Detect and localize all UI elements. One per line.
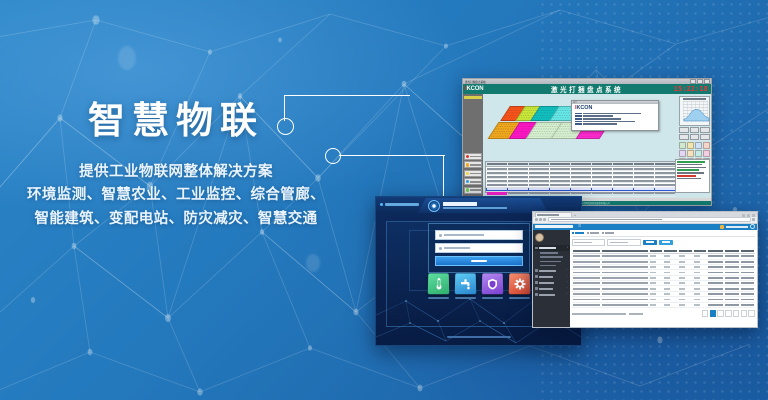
bell-icon <box>535 281 538 284</box>
back-icon[interactable] <box>535 218 538 221</box>
kcon-side-button[interactable] <box>464 187 482 194</box>
forward-icon[interactable] <box>539 218 542 221</box>
user-icon <box>439 234 442 237</box>
water-tap-icon <box>459 278 471 290</box>
kcon-sidebar[interactable] <box>463 94 483 198</box>
kcon-3d-map[interactable]: 关于 IKCON <box>485 96 677 162</box>
content-tabs[interactable] <box>572 232 755 237</box>
module-tiles[interactable] <box>428 273 530 299</box>
lock-icon <box>439 247 442 250</box>
browser-window[interactable]: + ☰ <box>532 211 758 328</box>
iot-title-ribbon <box>418 198 548 213</box>
user-icon <box>535 287 538 290</box>
about-info-row <box>575 118 658 120</box>
sidebar-item-settings[interactable]: › <box>533 292 570 298</box>
pager-buttons[interactable] <box>702 310 755 317</box>
login-button[interactable] <box>435 256 523 266</box>
date-input[interactable] <box>607 239 640 245</box>
login-form[interactable] <box>428 223 530 273</box>
panel-icon[interactable] <box>703 150 710 157</box>
panel-icon[interactable] <box>687 150 694 157</box>
chevron-down-icon: ▾ <box>567 247 568 249</box>
admin-content <box>570 230 757 328</box>
kcon-side-button[interactable] <box>464 153 482 160</box>
device-icon <box>535 247 538 250</box>
tab-device-list[interactable] <box>572 232 584 234</box>
power-icon[interactable] <box>750 224 755 229</box>
about-dialog[interactable]: 关于 IKCON <box>571 100 659 131</box>
chevron-right-icon: › <box>567 281 568 283</box>
about-dialog-title: 关于 <box>572 101 577 104</box>
pager-page-1[interactable] <box>710 310 717 317</box>
kcon-sidebar-buttons[interactable] <box>464 153 482 195</box>
panel-button[interactable] <box>679 134 689 140</box>
chevron-right-icon: › <box>567 287 568 289</box>
avatar <box>720 225 724 229</box>
search-button[interactable] <box>643 240 657 245</box>
avatar <box>535 233 544 242</box>
password-field[interactable] <box>435 243 523 253</box>
kcon-sidebar-header <box>464 96 482 99</box>
chart-curve <box>683 101 710 122</box>
device-table[interactable] <box>572 248 755 308</box>
pager-summary <box>572 313 626 315</box>
reset-button[interactable] <box>659 240 673 245</box>
menu-icon[interactable] <box>752 218 755 221</box>
kcon-button-row[interactable] <box>679 127 710 133</box>
hamburger-icon[interactable]: ☰ <box>578 225 581 228</box>
chevron-right-icon: › <box>567 269 568 271</box>
kcon-right-panel <box>679 96 710 162</box>
username-field[interactable] <box>435 230 523 240</box>
panel-button[interactable] <box>700 134 710 140</box>
panel-icon[interactable] <box>679 142 686 149</box>
banner-copy: 智慧物联 提供工业物联网整体解决方案 环境监测、智慧农业、工业监控、综合管廊、 … <box>0 102 352 231</box>
kcon-window-title: 激光打捆盘点系统 <box>463 80 690 84</box>
chevron-right-icon: › <box>567 275 568 277</box>
iot-title-text <box>443 202 507 208</box>
module-tile-environment[interactable] <box>428 273 449 299</box>
panel-icon[interactable] <box>695 150 702 157</box>
device-table-body[interactable] <box>572 254 755 308</box>
kcon-trend-chart <box>679 96 710 126</box>
page-title: 智慧物联 <box>0 102 352 139</box>
gear-icon <box>428 200 440 212</box>
status-dot-icon <box>380 203 383 206</box>
subtitle-line-1: 提供工业物联网整体解决方案 <box>0 161 352 184</box>
kcon-button-row[interactable] <box>679 134 710 140</box>
admin-user-name <box>726 226 748 228</box>
pager-page-3[interactable] <box>725 310 732 317</box>
chart-title-bar <box>683 98 706 100</box>
shield-icon <box>486 278 497 290</box>
module-tile-label <box>455 297 476 299</box>
panel-icon[interactable] <box>679 150 686 157</box>
kcon-side-button[interactable] <box>464 161 482 168</box>
kcon-data-table[interactable] <box>485 161 677 193</box>
kcon-body: 关于 IKCON <box>463 94 711 198</box>
tab-realtime-data[interactable] <box>587 232 599 234</box>
subtitle-line-2: 环境监测、智慧农业、工业监控、综合管廊、 <box>0 184 352 207</box>
panel-button[interactable] <box>690 127 700 133</box>
sidebar-user-card <box>533 232 570 245</box>
about-dialog-logo: IKCON <box>575 106 658 111</box>
tab-history-data[interactable] <box>602 232 614 234</box>
close-button[interactable] <box>752 214 755 217</box>
pager-next[interactable] <box>748 310 755 317</box>
chart-icon <box>535 275 538 278</box>
banner-subtitle: 提供工业物联网整体解决方案 环境监测、智慧农业、工业监控、综合管廊、 智能建筑、… <box>0 161 352 231</box>
chevron-right-icon: › <box>567 293 568 295</box>
panel-button[interactable] <box>679 127 689 133</box>
kcon-side-button[interactable] <box>464 178 482 185</box>
gear-icon <box>535 293 538 296</box>
reload-icon[interactable] <box>543 218 546 221</box>
panel-icon[interactable] <box>695 142 702 149</box>
table-row[interactable] <box>572 302 755 307</box>
module-tile-device[interactable] <box>509 273 530 299</box>
pager-page-5[interactable] <box>741 310 748 317</box>
pager-prev[interactable] <box>702 310 709 317</box>
module-tile-label <box>482 297 503 299</box>
about-info-row <box>575 123 658 125</box>
about-info-row <box>575 121 658 123</box>
module-tile-label <box>428 297 449 299</box>
panel-button[interactable] <box>700 127 710 133</box>
panel-icon[interactable] <box>703 142 710 149</box>
pager-page-4[interactable] <box>733 310 740 317</box>
kcon-clock: 15:22:18 <box>674 85 708 93</box>
kcon-log-panel <box>675 159 710 193</box>
kcon-header: IKCON 激光打捆盘点系统 15:22:18 <box>463 84 711 94</box>
banner-stage: 智慧物联 提供工业物联网整体解决方案 环境监测、智慧农业、工业监控、综合管廊、 … <box>0 0 768 400</box>
about-info-row <box>575 113 658 115</box>
url-input[interactable] <box>548 217 751 222</box>
about-logo-name: KCON <box>577 105 593 111</box>
iot-corner-label <box>380 203 419 206</box>
module-tile-security[interactable] <box>482 273 503 299</box>
about-info-row <box>575 115 658 117</box>
kcon-main-canvas: 关于 IKCON <box>483 94 711 198</box>
module-tile-agriculture[interactable] <box>455 273 476 299</box>
glow-dot <box>306 254 320 272</box>
pager-note <box>629 313 643 315</box>
about-dialog-titlebar[interactable]: 关于 <box>572 101 658 104</box>
pager-page-2[interactable] <box>717 310 724 317</box>
admin-header-right[interactable] <box>720 224 755 229</box>
admin-body: ▾ › › › › › <box>533 230 757 328</box>
search-input[interactable] <box>572 239 605 245</box>
gear-icon <box>513 278 525 290</box>
kcon-side-button[interactable] <box>464 170 482 177</box>
admin-logo <box>535 225 573 228</box>
admin-sidebar[interactable]: ▾ › › › › › <box>533 230 570 328</box>
table-pagination[interactable] <box>572 310 755 317</box>
kcon-app-window[interactable]: 激光打捆盘点系统 IKCON 激光打捆盘点系统 15:22:18 <box>462 78 712 206</box>
thermometer-icon <box>433 277 443 290</box>
node-icon <box>535 269 538 272</box>
glow-dot <box>118 46 136 70</box>
panel-icon[interactable] <box>687 142 694 149</box>
search-toolbar[interactable] <box>572 239 755 245</box>
module-tile-label <box>509 297 530 299</box>
subtitle-line-3: 智能建筑、变配电站、防灾减灾、智慧交通 <box>0 208 352 231</box>
panel-button[interactable] <box>690 134 700 140</box>
